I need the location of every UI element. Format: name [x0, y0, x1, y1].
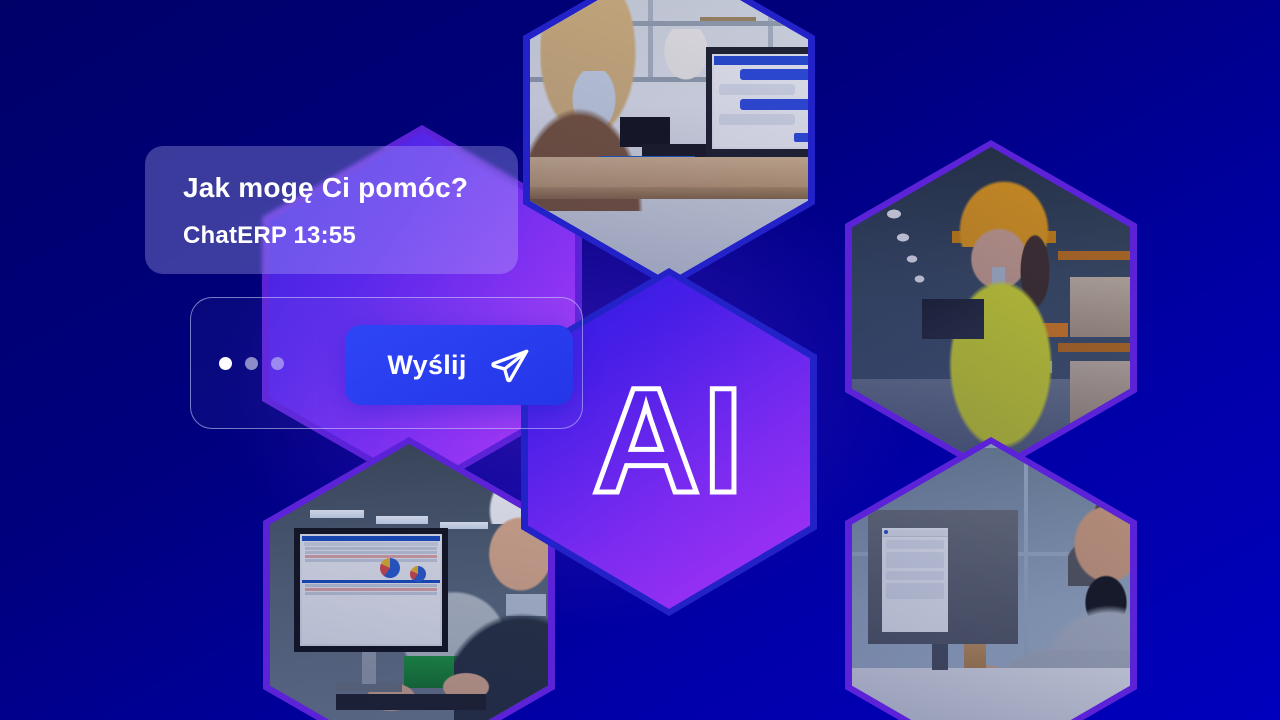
monitor-erp-dashboard [302, 536, 440, 644]
monitor-chat-message [886, 583, 944, 599]
typing-dot-3 [271, 357, 284, 370]
send-button[interactable]: Wyślij [345, 325, 573, 405]
ai-label: AI [592, 365, 746, 515]
monitor-chat-message [886, 540, 944, 549]
monitor-chat-message [886, 571, 944, 580]
paper-plane-icon [489, 344, 531, 386]
erp-row [305, 559, 437, 562]
erp-pie-chart [410, 566, 426, 582]
monitor-chat-window [714, 56, 808, 147]
monitor-chat-message [886, 552, 944, 568]
erp-toolbar [304, 542, 438, 546]
erp-row [305, 588, 437, 591]
hexagon-warehouse-clip [852, 147, 1130, 469]
erp-divider [302, 580, 440, 583]
erp-row [305, 547, 437, 550]
photo-warehouse-worker [852, 147, 1130, 469]
chat-message-bubble: Jak mogę Ci pomóc? ChatERP 13:55 [145, 146, 518, 274]
erp-pie-chart [380, 558, 400, 578]
monitor-chat-bubble-out [740, 99, 808, 110]
hero-canvas: AI Jak mogę Ci pomóc? ChatERP 13:55 Wyśl… [0, 0, 1280, 720]
erp-row [305, 584, 437, 587]
monitor-chat-panel-titlebar [882, 530, 948, 537]
erp-row [305, 551, 437, 554]
erp-row [305, 555, 437, 558]
hexagon-photo-factory [263, 437, 555, 720]
typing-dot-1 [219, 357, 232, 370]
erp-titlebar [302, 536, 440, 541]
chat-message-text: Jak mogę Ci pomóc? [183, 172, 518, 204]
monitor-chat-send-button [794, 133, 808, 142]
typing-indicator [219, 357, 284, 370]
hexagon-photo-warehouse [845, 140, 1137, 476]
chat-message-meta: ChatERP 13:55 [183, 222, 518, 250]
monitor-chat-bubble-out [740, 69, 808, 80]
monitor-chat-panel [882, 528, 948, 632]
hexagon-photo-meeting [845, 437, 1137, 720]
erp-row [305, 592, 437, 595]
photo-office-manager [852, 444, 1130, 720]
monitor-chat-bubble-in [719, 114, 795, 125]
monitor-chat-bubble-in [719, 84, 795, 95]
photo-factory-engineer [270, 444, 548, 720]
hexagon-factory-clip [270, 444, 548, 720]
send-button-label: Wyślij [387, 350, 466, 381]
typing-dot-2 [245, 357, 258, 370]
monitor-chat-avatar [884, 530, 888, 534]
hexagon-meeting-clip [852, 444, 1130, 720]
monitor-chat-titlebar [714, 56, 808, 65]
